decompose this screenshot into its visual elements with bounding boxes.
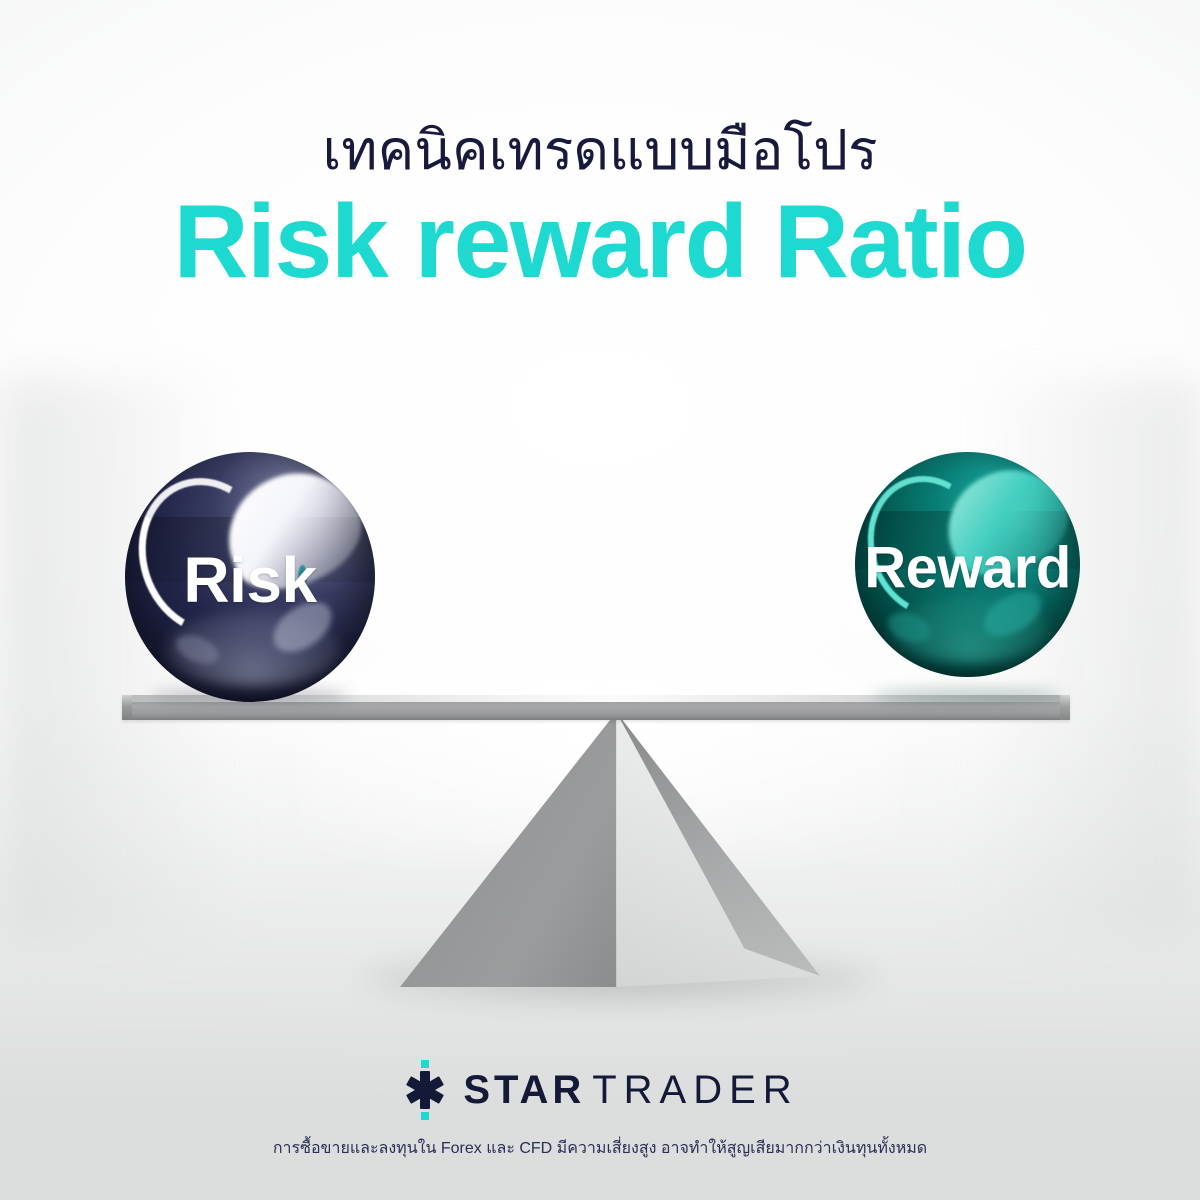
star-asterisk-icon [401, 1060, 449, 1120]
brand-wordmark: STAR TRADER [463, 1068, 798, 1113]
brand-lockup: STAR TRADER [0, 1060, 1200, 1120]
fulcrum-pyramid [400, 712, 820, 987]
risk-sphere: Risk [125, 452, 375, 702]
headline-block: เทคนิคเทรดแบบมือโปร Risk reward Ratio [0, 120, 1200, 297]
risk-sphere-label: Risk [125, 543, 375, 617]
reward-sphere-label: Reward [855, 534, 1080, 601]
headline-text: Risk reward Ratio [0, 188, 1200, 297]
reward-sphere: Reward [855, 452, 1080, 677]
beam-end-left [122, 695, 132, 720]
kicker-text: เทคนิคเทรดแบบมือโปร [0, 120, 1200, 182]
reward-sphere-contact-shadow [872, 688, 1062, 704]
brand-name-bold: STAR [463, 1068, 585, 1113]
beam-end-right [1060, 695, 1070, 720]
brand-name-light: TRADER [592, 1068, 798, 1113]
poster-canvas: เทคนิคเทรดแบบมือโปร Risk reward Ratio [0, 0, 1200, 1200]
risk-disclaimer: การซื้อขายและลงทุนใน Forex และ CFD มีควา… [0, 1136, 1200, 1161]
